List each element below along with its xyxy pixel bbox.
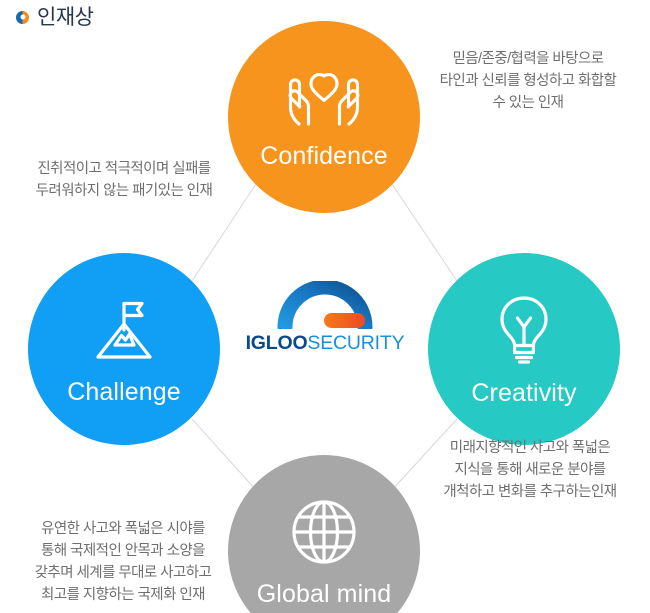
- caption-creativity: 미래지향적인 사고와 폭넓은 지식을 통해 새로운 분야를 개척하고 변화를 추…: [414, 437, 646, 503]
- caption-globalmind: 유연한 사고와 폭넓은 시야를 통해 국제적인 안목과 소양을 갖추며 세계를 …: [4, 518, 242, 606]
- caption-challenge: 진취적이고 적극적이며 실패를 두려워하지 않는 패기있는 인재: [6, 158, 242, 202]
- hands-heart-icon: [278, 66, 370, 132]
- logo-wordmark: IGLOOSECURITY: [246, 334, 405, 354]
- node-globalmind-label: Global mind: [257, 582, 392, 607]
- node-confidence[interactable]: Confidence: [228, 21, 420, 213]
- mountain-flag-icon: [88, 294, 160, 366]
- node-creativity[interactable]: Creativity: [428, 253, 620, 445]
- globe-icon: [288, 496, 360, 568]
- node-globalmind[interactable]: Global mind: [228, 455, 420, 613]
- logo-word-igloo: IGLOO: [246, 332, 308, 354]
- talent-profile-infographic: 인재상 Confidence: [0, 0, 650, 613]
- page-title: 인재상: [16, 0, 93, 34]
- node-confidence-label: Confidence: [260, 144, 387, 169]
- lightbulb-icon: [491, 293, 557, 367]
- connector-challenge-globalmind: [192, 419, 256, 490]
- node-challenge-label: Challenge: [67, 380, 181, 405]
- logo-word-security: SECURITY: [307, 332, 404, 354]
- ring-icon: [16, 11, 29, 24]
- igloo-arch-icon: [277, 281, 373, 329]
- node-challenge[interactable]: Challenge: [28, 253, 220, 445]
- node-creativity-label: Creativity: [471, 381, 576, 406]
- igloo-security-logo: IGLOOSECURITY: [247, 281, 403, 354]
- connector-confidence-creativity: [392, 184, 457, 281]
- page-title-label: 인재상: [37, 7, 93, 28]
- caption-confidence: 믿음/존중/협력을 바탕으로 타인과 신뢰를 형성하고 화합할 수 있는 인재: [416, 48, 640, 114]
